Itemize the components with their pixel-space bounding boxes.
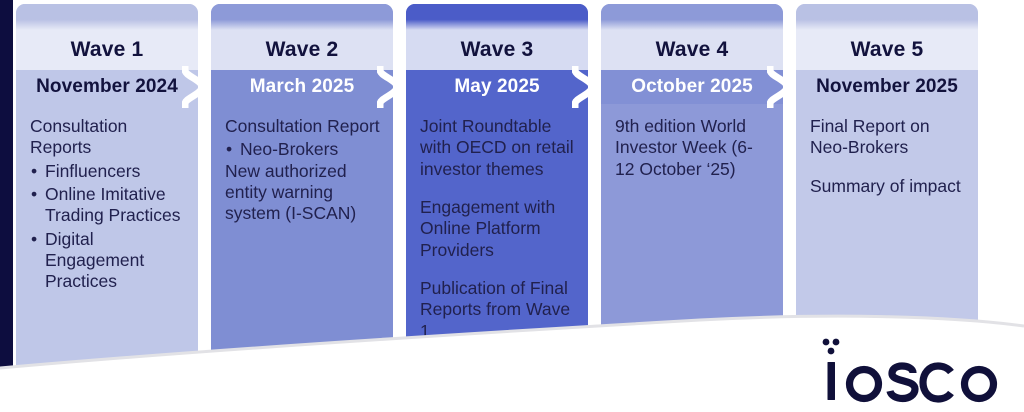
wave-date: October 2025 — [631, 76, 753, 98]
wave-paragraph: Publication of Final Reports from Wave 1 — [420, 278, 576, 342]
list-item: Online Imitative Trading Practices — [30, 184, 186, 227]
wave-title: Wave 4 — [656, 38, 729, 62]
wave-date-band: November 2024 — [16, 70, 198, 104]
wave-bullet-list: Neo-Brokers — [225, 139, 381, 160]
wave-title: Wave 3 — [461, 38, 534, 62]
wave-title-band: Wave 2 — [211, 30, 393, 70]
wave-date: March 2025 — [250, 76, 355, 98]
wave-title: Wave 5 — [851, 38, 924, 62]
wave-title-band: Wave 3 — [406, 30, 588, 70]
wave-paragraph: Consultation Reports — [30, 116, 186, 159]
iosco-logo — [812, 334, 1002, 406]
wave-date-band: October 2025 — [601, 70, 783, 104]
wave-paragraph: Final Report on Neo-Brokers — [810, 116, 966, 159]
wave-date-band: March 2025 — [211, 70, 393, 104]
wave-title-band: Wave 5 — [796, 30, 978, 70]
wave-date-band: May 2025 — [406, 70, 588, 104]
wave-body: Joint Roundtable with OECD on retail inv… — [406, 104, 588, 412]
wave-title-band: Wave 1 — [16, 30, 198, 70]
wave-title-band: Wave 4 — [601, 30, 783, 70]
wave-column-3[interactable]: Wave 3 May 2025 Joint Roundtable with OE… — [406, 4, 588, 412]
wave-column-4[interactable]: Wave 4 October 2025 9th edition World In… — [601, 4, 783, 412]
wave-paragraph: Summary of impact — [810, 176, 966, 197]
wave-top-strip — [211, 4, 393, 30]
wave-date: May 2025 — [454, 76, 539, 98]
wave-paragraph: Engagement with Online Platform Provider… — [420, 197, 576, 261]
wave-body: 9th edition World Investor Week (6-12 Oc… — [601, 104, 783, 412]
wave-top-strip — [796, 4, 978, 30]
list-item: Neo-Brokers — [225, 139, 381, 160]
list-item: Finfluencers — [30, 161, 186, 182]
wave-paragraph: Consultation Report — [225, 116, 381, 137]
wave-date: November 2025 — [816, 76, 958, 98]
wave-date: November 2024 — [36, 76, 178, 98]
wave-column-2[interactable]: Wave 2 March 2025 Consultation Report Ne… — [211, 4, 393, 412]
wave-top-strip — [601, 4, 783, 30]
wave-paragraph: Joint Roundtable with OECD on retail inv… — [420, 116, 576, 180]
list-item: Digital Engagement Practices — [30, 229, 186, 293]
wave-bullet-list: Finfluencers Online Imitative Trading Pr… — [30, 161, 186, 293]
left-accent-bar — [0, 0, 13, 412]
wave-top-strip — [406, 4, 588, 30]
wave-date-band: November 2025 — [796, 70, 978, 104]
wave-body: Consultation Report Neo-Brokers New auth… — [211, 104, 393, 412]
wave-title: Wave 1 — [71, 38, 144, 62]
wave-paragraph: 9th edition World Investor Week (6-12 Oc… — [615, 116, 771, 180]
wave-column-1[interactable]: Wave 1 November 2024 Consultation Report… — [16, 4, 198, 412]
wave-title: Wave 2 — [266, 38, 339, 62]
wave-body: Consultation Reports Finfluencers Online… — [16, 104, 198, 412]
wave-paragraph: New authorized entity warning system (I-… — [225, 161, 381, 225]
timeline-slide: Wave 1 November 2024 Consultation Report… — [0, 0, 1024, 412]
wave-top-strip — [16, 4, 198, 30]
